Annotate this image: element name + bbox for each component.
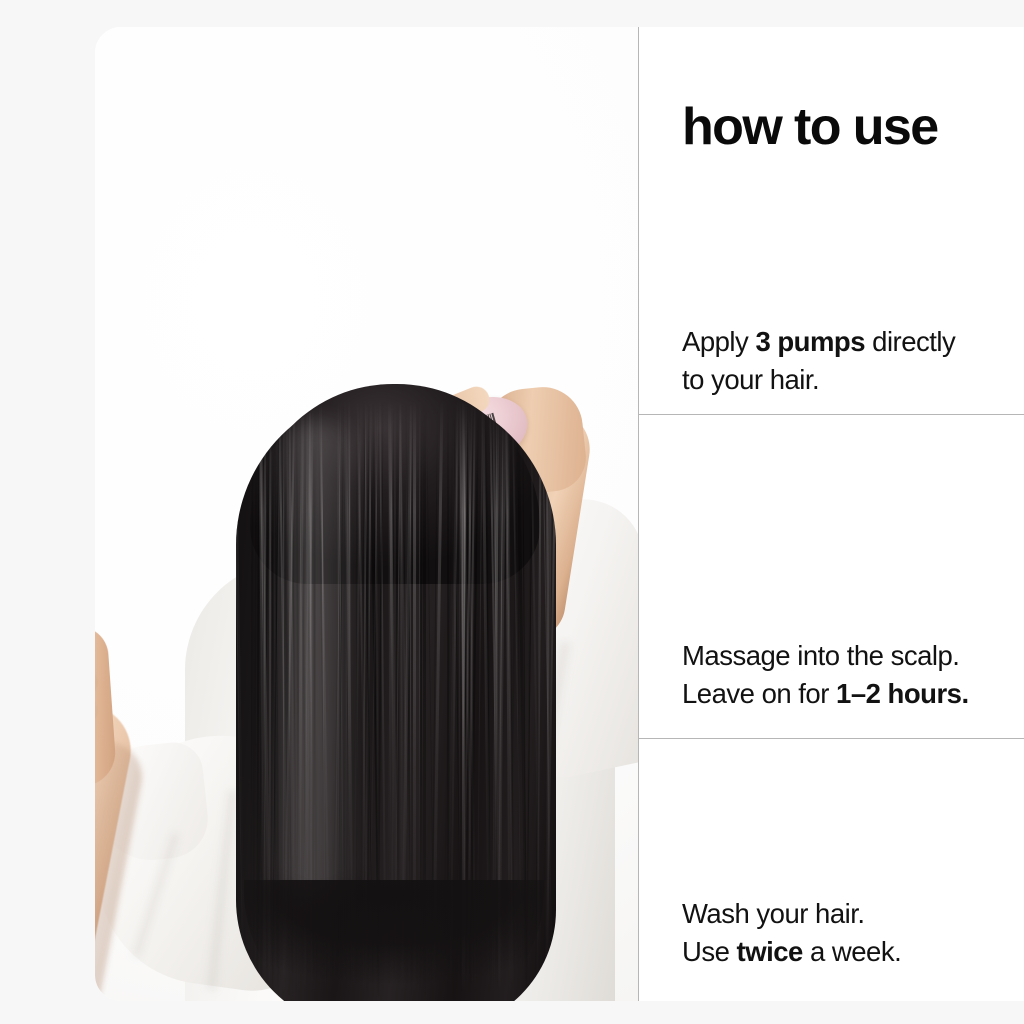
instruction-line: to your hair. [682, 361, 1024, 399]
page-title: how to use [682, 101, 938, 153]
content-card: organic kid sleek leave-in treatment 100… [95, 27, 1024, 1001]
product-usage-photo: organic kid sleek leave-in treatment 100… [95, 27, 638, 1001]
instruction-step-2: Massage into the scalp. Leave on for 1–2… [682, 637, 1024, 713]
horizontal-divider [638, 414, 1024, 415]
how-to-use-panel: how to use Apply 3 pumps directly to you… [638, 27, 1024, 1001]
horizontal-divider [638, 738, 1024, 739]
instruction-line: Wash your hair. [682, 895, 1024, 933]
instruction-step-3: Wash your hair. Use twice a week. [682, 895, 1024, 971]
instruction-line: Massage into the scalp. [682, 637, 1024, 675]
instruction-line: Use twice a week. [682, 933, 1024, 971]
panel-inner: how to use Apply 3 pumps directly to you… [638, 27, 1024, 1001]
hair-sheen [268, 420, 364, 900]
page-root: organic kid sleek leave-in treatment 100… [0, 0, 1024, 1024]
hair-tips [244, 880, 544, 1001]
instruction-step-1: Apply 3 pumps directly to your hair. [682, 323, 1024, 399]
instruction-line: Leave on for 1–2 hours. [682, 675, 1024, 713]
photo-stage: organic kid sleek leave-in treatment 100… [95, 27, 638, 1001]
instruction-line: Apply 3 pumps directly [682, 323, 1024, 361]
